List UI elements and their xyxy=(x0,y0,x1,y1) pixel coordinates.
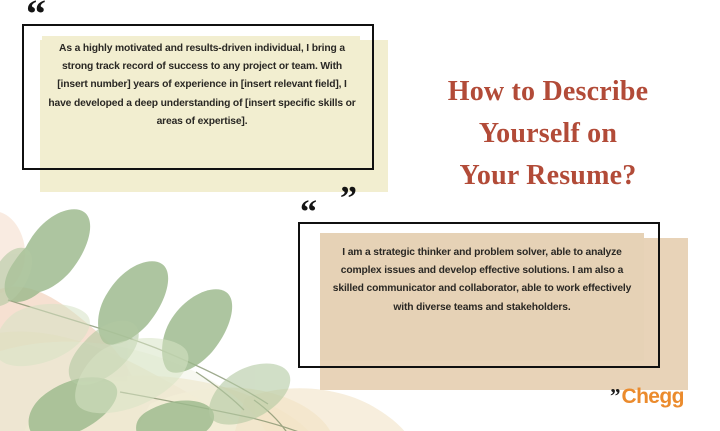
foliage-leaves xyxy=(0,209,290,431)
page-title-line-2: Yourself on xyxy=(394,113,702,155)
logo-wordmark: Chegg xyxy=(622,386,684,407)
foliage-stems xyxy=(8,300,320,431)
close-quote-icon-card-2: ” xyxy=(340,182,358,216)
logo-quote-icon: ” xyxy=(610,386,621,407)
quote-card-2: I am a strategic thinker and problem sol… xyxy=(298,222,688,390)
quote-card-2-text: I am a strategic thinker and problem sol… xyxy=(326,244,638,317)
quote-card-1-text: As a highly motivated and results-driven… xyxy=(48,40,356,131)
page-title-line-3: Your Resume? xyxy=(394,155,702,197)
page-title: How to Describe Yourself on Your Resume? xyxy=(394,71,702,197)
quote-card-1: As a highly motivated and results-driven… xyxy=(22,24,382,182)
chegg-logo: ” Chegg xyxy=(610,386,684,407)
poster-canvas: How to Describe Yourself on Your Resume?… xyxy=(0,0,720,431)
page-title-line-1: How to Describe xyxy=(394,71,702,113)
